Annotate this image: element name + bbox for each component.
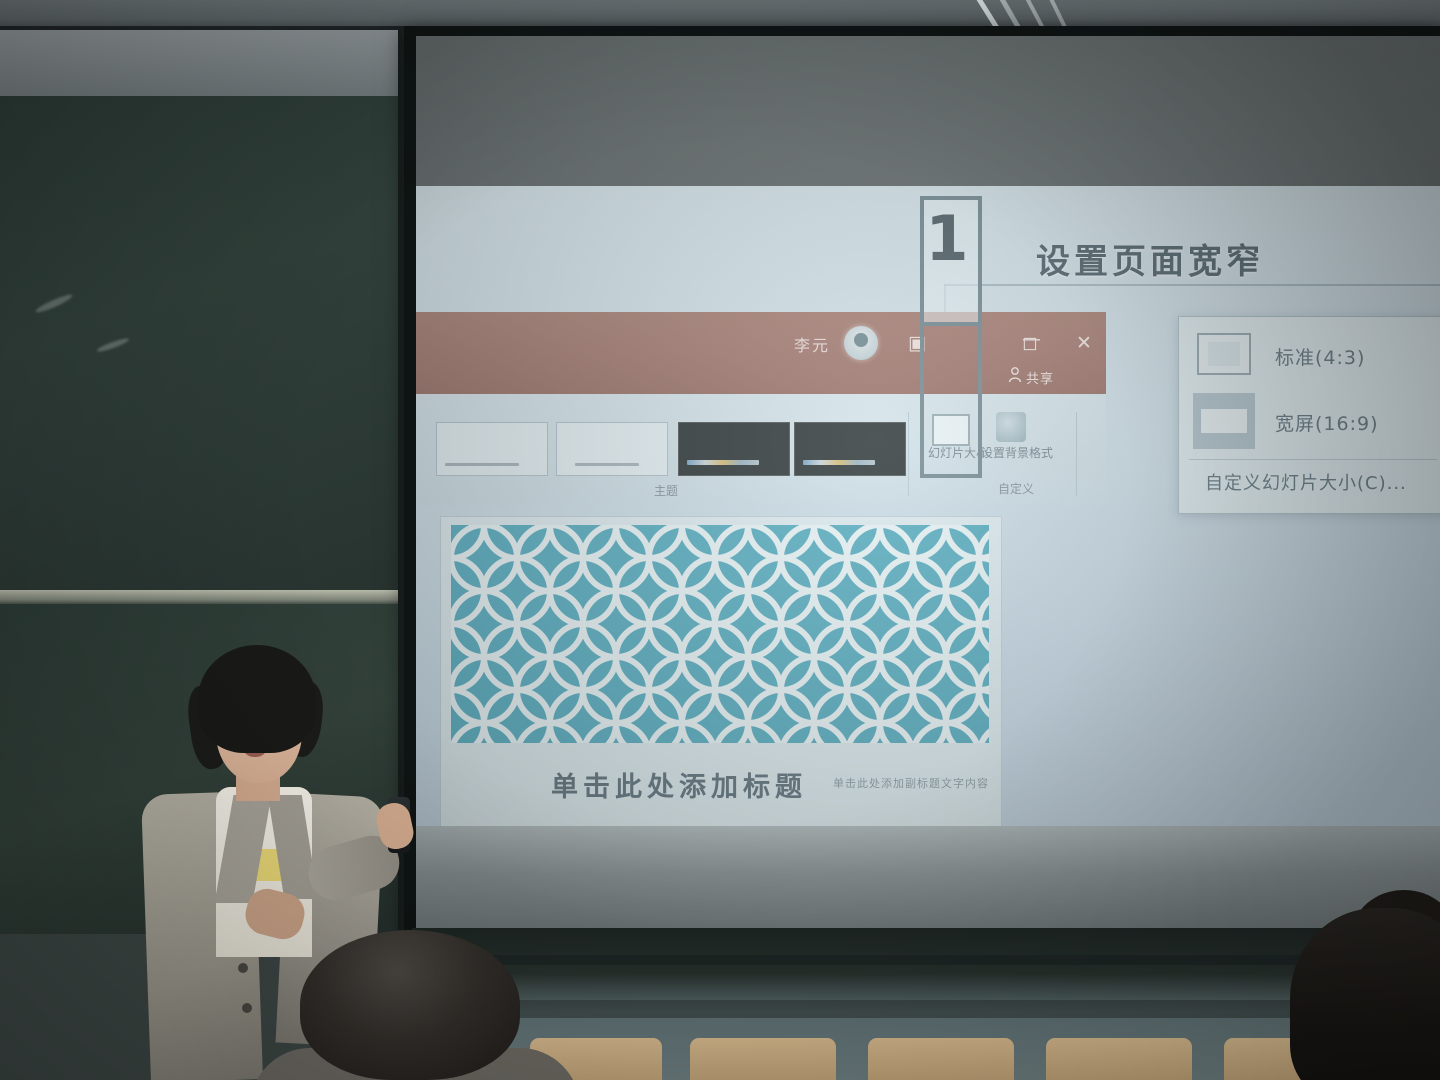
dropdown-item-label: 宽屏(16:9) <box>1275 409 1379 436</box>
share-person-icon <box>1008 367 1022 383</box>
theme-thumbnail[interactable] <box>794 422 906 476</box>
desk-shadow <box>412 1000 1440 1018</box>
restore-button[interactable]: ◻ <box>1022 332 1038 354</box>
wall-shadow-band <box>412 955 1440 965</box>
slide-canvas[interactable]: 单击此处添加标题 单击此处添加副标题文字内容 <box>440 516 1002 856</box>
jacket-button <box>238 963 248 973</box>
slide-title: 设置页面宽窄 <box>1036 234 1264 283</box>
background-format-icon[interactable] <box>996 412 1026 442</box>
screen-lower-band <box>416 826 1440 930</box>
blackboard-upper <box>0 96 398 596</box>
presenter-hair <box>198 645 316 753</box>
account-name[interactable]: 李元 <box>794 332 830 356</box>
slide-size-dropdown[interactable]: 标准(4:3) 宽屏(16:9) 自定义幻灯片大小(C)... <box>1178 316 1440 514</box>
close-button[interactable]: ✕ <box>1076 332 1092 354</box>
classroom-projection-scene: 设置页面宽窄 李元 ▣ — ◻ ✕ 共享 <box>0 0 1440 1080</box>
dropdown-separator <box>1189 459 1437 460</box>
placeholder-title[interactable]: 单击此处添加标题 <box>551 765 807 804</box>
ribbon-separator <box>908 412 909 496</box>
projection-screen: 设置页面宽窄 李元 ▣ — ◻ ✕ 共享 <box>416 36 1440 932</box>
ratio-4-3-icon <box>1197 333 1251 375</box>
theme-group-label: 主题 <box>654 482 678 499</box>
placeholder-subtitle[interactable]: 单击此处添加副标题文字内容 <box>833 775 989 791</box>
chair <box>1046 1038 1192 1080</box>
dropdown-item-widescreen[interactable]: 宽屏(16:9) <box>1179 389 1440 451</box>
background-format-label[interactable]: 设置背景格式 <box>974 446 1060 461</box>
dropdown-item-standard[interactable]: 标准(4:3) <box>1179 323 1440 385</box>
step-number: 1 <box>920 208 974 270</box>
ratio-16-9-icon <box>1193 393 1255 449</box>
wall-trim <box>0 30 404 98</box>
projected-slide: 设置页面宽窄 李元 ▣ — ◻ ✕ 共享 <box>416 186 1440 826</box>
theme-thumbnail[interactable] <box>556 422 668 476</box>
ppt-titlebar <box>416 312 1106 394</box>
background-pattern <box>451 525 989 743</box>
customize-group-label: 自定义 <box>968 480 1064 497</box>
interlocking-circles-pattern <box>451 525 989 743</box>
ribbon-separator <box>1076 412 1077 496</box>
theme-thumbnail[interactable] <box>436 422 548 476</box>
theme-thumbnail[interactable] <box>678 422 790 476</box>
share-button[interactable]: 共享 <box>1026 368 1054 387</box>
dropdown-item-custom[interactable]: 自定义幻灯片大小(C)... <box>1205 469 1407 495</box>
chair <box>690 1038 836 1080</box>
avatar[interactable] <box>844 326 878 360</box>
jacket-button <box>242 1003 252 1013</box>
title-rule <box>944 284 1440 286</box>
dropdown-item-label: 标准(4:3) <box>1275 343 1365 370</box>
chalk-rail <box>0 590 398 604</box>
audience-member-front <box>300 930 520 1080</box>
chair <box>868 1038 1014 1080</box>
